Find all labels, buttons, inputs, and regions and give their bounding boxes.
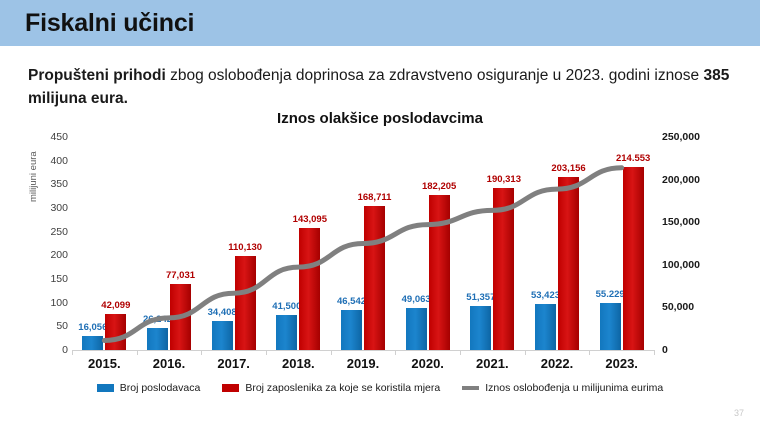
- x-tick-mark: [654, 350, 655, 355]
- y-tick-left: 350: [50, 178, 68, 190]
- legend-item-1[interactable]: Broj zaposlenika za koje se koristila mj…: [222, 382, 440, 394]
- page-title: Fiskalni učinci: [25, 9, 194, 38]
- x-tick-mark: [201, 350, 202, 355]
- y-tick-left: 450: [50, 131, 68, 143]
- y-tick-left: 300: [50, 202, 68, 214]
- x-tick-mark: [395, 350, 396, 355]
- intro-middle-text: zbog oslobođenja doprinosa za zdravstven…: [166, 67, 704, 84]
- legend-item-0[interactable]: Broj poslodavaca: [97, 382, 201, 394]
- y-tick-right: 200,000: [662, 174, 700, 186]
- legend-label: Broj poslodavaca: [120, 382, 201, 394]
- y-tick-right: 100,000: [662, 259, 700, 271]
- x-category-label: 2018.: [282, 356, 315, 371]
- legend-swatch-icon: [462, 386, 479, 390]
- y-tick-left: 150: [50, 273, 68, 285]
- chart-title: Iznos olakšice poslodavcima: [0, 110, 760, 127]
- y-tick-left: 50: [56, 320, 68, 332]
- x-axis-line: [72, 350, 654, 351]
- y-tick-left: 250: [50, 226, 68, 238]
- x-category-label: 2021.: [476, 356, 509, 371]
- y-axis-left-ticks: 050100150200250300350400450: [38, 137, 68, 350]
- x-category-label: 2017.: [217, 356, 250, 371]
- x-tick-mark: [589, 350, 590, 355]
- slide-page-number: 37: [734, 408, 744, 418]
- chart-legend: Broj poslodavacaBroj zaposlenika za koje…: [0, 382, 760, 394]
- y-tick-left: 100: [50, 297, 68, 309]
- y-tick-right: 150,000: [662, 216, 700, 228]
- y-tick-left: 0: [62, 344, 68, 356]
- x-tick-mark: [460, 350, 461, 355]
- legend-swatch-icon: [222, 384, 239, 392]
- legend-label: Broj zaposlenika za koje se koristila mj…: [245, 382, 440, 394]
- trend-line-layer: [72, 137, 654, 350]
- y-tick-left: 200: [50, 249, 68, 261]
- x-category-label: 2016.: [153, 356, 186, 371]
- legend-label: Iznos oslobođenja u milijunima eurima: [485, 382, 663, 394]
- x-tick-mark: [525, 350, 526, 355]
- y-tick-right: 50,000: [662, 301, 694, 313]
- trend-line-path: [104, 168, 621, 341]
- x-category-label: 2015.: [88, 356, 121, 371]
- y-tick-left: 400: [50, 155, 68, 167]
- y-tick-right: 0: [662, 344, 668, 356]
- chart-container: Iznos olakšice poslodavcima milijuni eur…: [0, 110, 760, 410]
- y-axis-right-ticks: 050,000100,000150,000200,000250,000: [662, 137, 732, 350]
- legend-swatch-icon: [97, 384, 114, 392]
- y-tick-right: 250,000: [662, 131, 700, 143]
- x-tick-mark: [137, 350, 138, 355]
- legend-item-2[interactable]: Iznos oslobođenja u milijunima eurima: [462, 382, 663, 394]
- x-tick-mark: [72, 350, 73, 355]
- x-category-label: 2019.: [347, 356, 380, 371]
- x-axis-categories: 2015.2016.2017.2018.2019.2020.2021.2022.…: [72, 356, 654, 376]
- x-tick-mark: [331, 350, 332, 355]
- x-category-label: 2023.: [605, 356, 638, 371]
- x-tick-mark: [266, 350, 267, 355]
- intro-bold-lead: Propušteni prihodi: [28, 67, 166, 84]
- plot-area: 16,05626,24234,40841,50046,54249,06351,3…: [72, 137, 654, 350]
- x-category-label: 2020.: [411, 356, 444, 371]
- intro-paragraph: Propušteni prihodi zbog oslobođenja dopr…: [28, 64, 740, 110]
- x-category-label: 2022.: [541, 356, 574, 371]
